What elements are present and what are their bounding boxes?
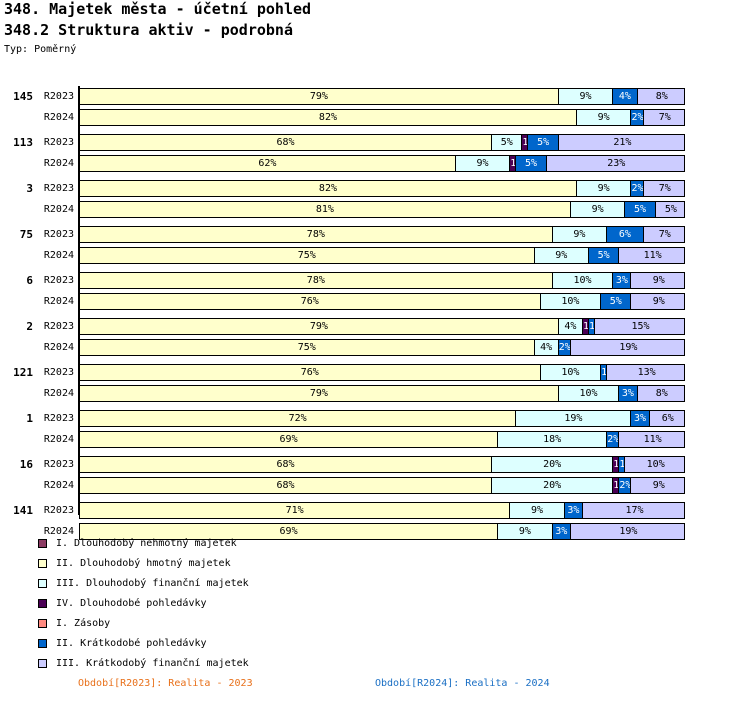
group-label: 121 xyxy=(0,366,33,379)
bar-segment-label: 9% xyxy=(553,227,607,242)
bar-segment-label: 15% xyxy=(595,319,685,334)
bar-segment: 4% xyxy=(559,319,583,334)
bar-segment-label: 5% xyxy=(625,202,654,217)
bar-row: 69%18%2%11% xyxy=(79,431,685,448)
bar-segment: 76% xyxy=(80,294,541,309)
bar-segment: 78% xyxy=(80,273,553,288)
bar-segment: 5% xyxy=(492,135,522,150)
bar-segment: 10% xyxy=(553,273,614,288)
bar-segment-label: 9% xyxy=(559,89,613,104)
bar-segment-label: 82% xyxy=(80,181,576,196)
bar-segment: 3% xyxy=(613,273,631,288)
bar-segment-label: 1% xyxy=(589,319,594,334)
bar-segment: 9% xyxy=(571,202,626,217)
bar-segment-label: 79% xyxy=(80,89,558,104)
bar-segment-label: 9% xyxy=(571,202,625,217)
bar-segment-label: 3% xyxy=(565,503,582,518)
bar-segment: 23% xyxy=(547,156,685,171)
bar-row: 81%9%5%5% xyxy=(79,201,685,218)
bar-row: 71%9%3%17% xyxy=(79,502,685,519)
bar-row: 68%20%1%1%10% xyxy=(79,456,685,473)
group-label: 1 xyxy=(0,412,33,425)
bar-row: 75%4%2%19% xyxy=(79,339,685,356)
bar-segment: 3% xyxy=(565,503,583,518)
bar-segment-label: 20% xyxy=(492,478,612,493)
bar-segment-label: 1% xyxy=(510,156,515,171)
bar-segment: 2% xyxy=(619,478,631,493)
group-label: 3 xyxy=(0,182,33,195)
bar-segment: 7% xyxy=(644,181,685,196)
bar-segment: 79% xyxy=(80,319,559,334)
bar-segment-label: 10% xyxy=(541,294,601,309)
bar-segment-label: 1% xyxy=(522,135,527,150)
bar-segment: 11% xyxy=(619,432,685,447)
bar-segment: 79% xyxy=(80,386,559,401)
bar-segment: 19% xyxy=(516,411,631,426)
bar-segment-label: 71% xyxy=(80,503,509,518)
bar-segment-label: 81% xyxy=(80,202,570,217)
bar-segment-label: 72% xyxy=(80,411,515,426)
bar-segment-label: 3% xyxy=(553,524,570,539)
bar-segment: 2% xyxy=(607,432,619,447)
bar-segment: 19% xyxy=(571,524,685,539)
bar-segment-label: 9% xyxy=(535,248,589,263)
bar-segment: 11% xyxy=(619,248,685,263)
chart-type-label: Typ: Poměrný xyxy=(4,44,76,55)
bar-segment-label: 18% xyxy=(498,432,606,447)
bar-segment: 15% xyxy=(595,319,685,334)
bar-segment-label: 7% xyxy=(644,181,685,196)
bar-segment-label: 5% xyxy=(656,202,685,217)
bar-segment: 9% xyxy=(456,156,511,171)
bar-segment-label: 79% xyxy=(80,386,558,401)
bar-segment: 5% xyxy=(516,156,546,171)
bar-segment: 76% xyxy=(80,365,541,380)
bar-segment-label: 1% xyxy=(613,457,618,472)
bar-segment-label: 76% xyxy=(80,365,540,380)
bar-segment: 7% xyxy=(644,110,685,125)
group-label: 6 xyxy=(0,274,33,287)
legend-item: I. Zásoby xyxy=(38,613,249,633)
bar-segment: 3% xyxy=(631,411,649,426)
bar-segment: 8% xyxy=(638,386,685,401)
bar-segment: 5% xyxy=(601,294,631,309)
chart-plot-area: 79%9%4%8%82%9%2%7%68%5%1%5%21%62%9%1%5%2… xyxy=(79,88,685,513)
bar-segment: 2% xyxy=(631,181,643,196)
bar-segment-label: 9% xyxy=(577,181,631,196)
bar-segment: 82% xyxy=(80,181,577,196)
legend-item-label: II. Krátkodobé pohledávky xyxy=(56,638,207,649)
bar-segment-label: 68% xyxy=(80,457,491,472)
bar-segment-label: 78% xyxy=(80,227,552,242)
bar-segment: 19% xyxy=(571,340,685,355)
bar-segment: 68% xyxy=(80,478,492,493)
bar-segment-label: 10% xyxy=(553,273,613,288)
bar-segment: 81% xyxy=(80,202,571,217)
bar-segment-label: 1% xyxy=(583,319,588,334)
bar-segment-label: 2% xyxy=(559,340,570,355)
bar-segment-label: 10% xyxy=(559,386,619,401)
legend-item-label: III. Krátkodobý finanční majetek xyxy=(56,658,249,669)
row-period-label: R2024 xyxy=(0,296,74,307)
bar-segment-label: 10% xyxy=(541,365,601,380)
bar-segment-label: 68% xyxy=(80,135,491,150)
bar-segment-label: 5% xyxy=(589,248,618,263)
bar-segment: 9% xyxy=(553,227,608,242)
bar-segment: 21% xyxy=(559,135,685,150)
bar-segment-label: 79% xyxy=(80,319,558,334)
bar-segment-label: 69% xyxy=(80,432,497,447)
bar-segment: 6% xyxy=(650,411,685,426)
bar-row: 62%9%1%5%23% xyxy=(79,155,685,172)
bar-segment-label: 2% xyxy=(631,181,642,196)
bar-segment: 4% xyxy=(535,340,559,355)
bar-segment: 10% xyxy=(541,294,602,309)
bar-segment-label: 5% xyxy=(516,156,545,171)
legend-swatch-icon xyxy=(38,559,47,568)
bar-segment: 9% xyxy=(498,524,553,539)
group-label: 113 xyxy=(0,136,33,149)
bar-segment: 9% xyxy=(559,89,614,104)
group-label: 16 xyxy=(0,458,33,471)
legend-item: II. Dlouhodobý hmotný majetek xyxy=(38,553,249,573)
row-period-label: R2024 xyxy=(0,158,74,169)
bar-segment-label: 9% xyxy=(510,503,564,518)
bar-segment: 17% xyxy=(583,503,685,518)
legend-swatch-icon xyxy=(38,619,47,628)
legend-swatch-icon xyxy=(38,599,47,608)
bar-row: 78%9%6%7% xyxy=(79,226,685,243)
legend-swatch-icon xyxy=(38,539,47,548)
bar-segment-label: 4% xyxy=(535,340,558,355)
legend-item-label: II. Dlouhodobý hmotný majetek xyxy=(56,558,231,569)
bar-segment-label: 9% xyxy=(498,524,552,539)
row-period-label: R2024 xyxy=(0,112,74,123)
bar-segment-label: 2% xyxy=(619,478,630,493)
bar-segment: 18% xyxy=(498,432,607,447)
bar-row: 79%10%3%8% xyxy=(79,385,685,402)
bar-row: 78%10%3%9% xyxy=(79,272,685,289)
row-period-label: R2024 xyxy=(0,250,74,261)
legend-swatch-icon xyxy=(38,579,47,588)
bar-segment: 82% xyxy=(80,110,577,125)
bar-segment-label: 4% xyxy=(559,319,582,334)
bar-segment: 75% xyxy=(80,340,535,355)
bar-segment-label: 7% xyxy=(644,227,685,242)
bar-segment: 68% xyxy=(80,135,492,150)
bar-segment-label: 62% xyxy=(80,156,455,171)
bar-row: 75%9%5%11% xyxy=(79,247,685,264)
bar-segment-label: 4% xyxy=(613,89,636,104)
bar-segment: 7% xyxy=(644,227,685,242)
bar-row: 79%9%4%8% xyxy=(79,88,685,105)
bar-segment: 9% xyxy=(631,294,685,309)
bar-row: 76%10%5%9% xyxy=(79,293,685,310)
legend-item: III. Krátkodobý finanční majetek xyxy=(38,653,249,673)
bar-segment: 10% xyxy=(541,365,602,380)
bar-segment-label: 1% xyxy=(613,478,618,493)
bar-segment-label: 3% xyxy=(631,411,648,426)
bar-segment-label: 10% xyxy=(625,457,685,472)
bar-segment-label: 3% xyxy=(613,273,630,288)
legend-swatch-icon xyxy=(38,659,47,668)
chart-legend: I. Dlouhodobý nehmotný majetekII. Dlouho… xyxy=(38,533,249,673)
bar-segment-label: 7% xyxy=(644,110,685,125)
bar-segment: 4% xyxy=(613,89,637,104)
bar-row: 72%19%3%6% xyxy=(79,410,685,427)
bar-segment-label: 19% xyxy=(571,524,685,539)
bar-segment: 9% xyxy=(631,478,685,493)
bar-segment-label: 5% xyxy=(601,294,630,309)
group-label: 2 xyxy=(0,320,33,333)
bar-segment-label: 68% xyxy=(80,478,491,493)
bar-segment: 9% xyxy=(631,273,685,288)
bar-row: 68%20%1%2%9% xyxy=(79,477,685,494)
bar-segment-label: 20% xyxy=(492,457,612,472)
bar-segment: 62% xyxy=(80,156,456,171)
bar-segment-label: 5% xyxy=(528,135,557,150)
bar-segment-label: 75% xyxy=(80,248,534,263)
legend-item-label: III. Dlouhodobý finanční majetek xyxy=(56,578,249,589)
row-period-label: R2024 xyxy=(0,204,74,215)
bar-segment-label: 2% xyxy=(631,110,642,125)
group-label: 141 xyxy=(0,504,33,517)
bar-row: 68%5%1%5%21% xyxy=(79,134,685,151)
group-label: 145 xyxy=(0,90,33,103)
bar-segment-label: 9% xyxy=(456,156,510,171)
bar-row: 82%9%2%7% xyxy=(79,109,685,126)
bar-segment-label: 13% xyxy=(607,365,685,380)
bar-segment-label: 75% xyxy=(80,340,534,355)
page-title: 348. Majetek města - účetní pohled xyxy=(4,0,311,18)
bar-segment-label: 6% xyxy=(607,227,642,242)
bar-segment: 5% xyxy=(528,135,558,150)
bar-segment-label: 6% xyxy=(650,411,685,426)
legend-item: III. Dlouhodobý finanční majetek xyxy=(38,573,249,593)
legend-item-label: I. Zásoby xyxy=(56,618,110,629)
bar-segment-label: 1% xyxy=(619,457,624,472)
footer-period-2023: Období[R2023]: Realita - 2023 xyxy=(78,678,253,689)
bar-segment: 13% xyxy=(607,365,685,380)
bar-segment: 6% xyxy=(607,227,643,242)
footer-period-2024: Období[R2024]: Realita - 2024 xyxy=(375,678,550,689)
bar-segment-label: 17% xyxy=(583,503,685,518)
bar-segment-label: 78% xyxy=(80,273,552,288)
bar-segment-label: 11% xyxy=(619,432,685,447)
bar-segment-label: 3% xyxy=(619,386,636,401)
page-subtitle: 348.2 Struktura aktiv - podrobná xyxy=(4,21,293,39)
bar-segment-label: 1% xyxy=(601,365,606,380)
legend-item-label: I. Dlouhodobý nehmotný majetek xyxy=(56,538,237,549)
bar-segment: 79% xyxy=(80,89,559,104)
row-period-label: R2024 xyxy=(0,480,74,491)
bar-segment: 9% xyxy=(577,110,632,125)
bar-segment: 2% xyxy=(559,340,571,355)
bar-segment: 5% xyxy=(589,248,619,263)
bar-segment: 9% xyxy=(510,503,565,518)
bar-segment-label: 5% xyxy=(492,135,521,150)
bar-segment: 5% xyxy=(625,202,655,217)
bar-segment: 5% xyxy=(656,202,685,217)
bar-segment: 20% xyxy=(492,457,613,472)
legend-item: II. Krátkodobé pohledávky xyxy=(38,633,249,653)
bar-segment: 68% xyxy=(80,457,492,472)
bar-row: 79%4%1%1%15% xyxy=(79,318,685,335)
bar-segment-label: 9% xyxy=(631,273,685,288)
row-period-label: R2024 xyxy=(0,434,74,445)
bar-segment: 10% xyxy=(559,386,620,401)
row-period-label: R2024 xyxy=(0,388,74,399)
bar-segment: 69% xyxy=(80,432,498,447)
bar-segment: 75% xyxy=(80,248,535,263)
bar-segment-label: 11% xyxy=(619,248,685,263)
bar-segment: 9% xyxy=(535,248,590,263)
bar-segment-label: 8% xyxy=(638,386,685,401)
bar-segment: 20% xyxy=(492,478,613,493)
bar-segment: 72% xyxy=(80,411,516,426)
bar-row: 76%10%1%13% xyxy=(79,364,685,381)
bar-segment-label: 8% xyxy=(638,89,685,104)
bar-segment: 9% xyxy=(577,181,632,196)
bar-segment-label: 19% xyxy=(516,411,630,426)
bar-segment-label: 9% xyxy=(631,478,685,493)
bar-segment-label: 23% xyxy=(547,156,685,171)
bar-segment: 8% xyxy=(638,89,685,104)
group-label: 75 xyxy=(0,228,33,241)
legend-item: IV. Dlouhodobé pohledávky xyxy=(38,593,249,613)
bar-segment-label: 76% xyxy=(80,294,540,309)
bar-segment-label: 9% xyxy=(631,294,685,309)
row-period-label: R2024 xyxy=(0,526,74,537)
legend-item-label: IV. Dlouhodobé pohledávky xyxy=(56,598,207,609)
legend-swatch-icon xyxy=(38,639,47,648)
bar-segment: 71% xyxy=(80,503,510,518)
bar-segment-label: 82% xyxy=(80,110,576,125)
bar-segment: 3% xyxy=(553,524,571,539)
bar-segment: 10% xyxy=(625,457,685,472)
bar-segment: 3% xyxy=(619,386,637,401)
bar-segment-label: 21% xyxy=(559,135,685,150)
bar-segment: 78% xyxy=(80,227,553,242)
bar-segment-label: 19% xyxy=(571,340,685,355)
bar-row: 82%9%2%7% xyxy=(79,180,685,197)
row-period-label: R2024 xyxy=(0,342,74,353)
bar-segment-label: 2% xyxy=(607,432,618,447)
bar-segment: 2% xyxy=(631,110,643,125)
bar-segment-label: 9% xyxy=(577,110,631,125)
